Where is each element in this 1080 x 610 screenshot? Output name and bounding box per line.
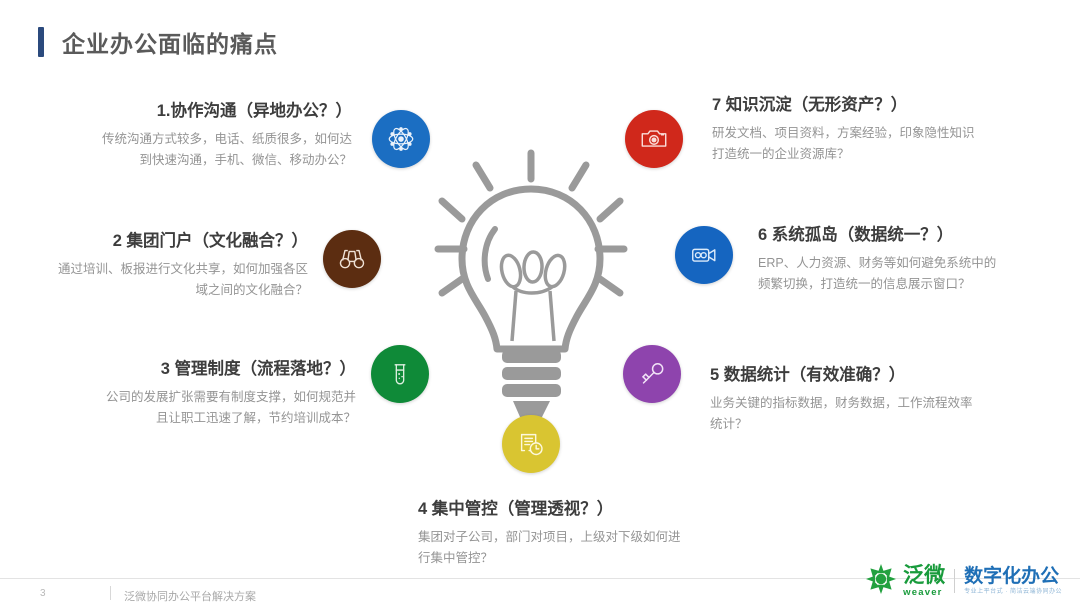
logo-cn-text: 泛微	[903, 565, 945, 586]
page-number: 3	[40, 588, 46, 599]
pain-point-7-title: 7 知识沉淀（无形资产？）	[712, 94, 976, 117]
pain-point-4-title: 4 集中管控（管理透视？）	[418, 498, 683, 521]
icon-bubble-4[interactable]	[502, 415, 560, 473]
footer-separator	[110, 586, 111, 600]
pain-point-2-body: 通过培训、板报进行文化共享，如何加强各区域之间的文化融合？	[50, 259, 308, 300]
atom-icon	[386, 124, 416, 154]
icon-bubble-2[interactable]	[323, 230, 381, 288]
pain-point-1: 1.协作沟通（异地办公？） 传统沟通方式较多，电话、纸质很多，如何达到快速沟通，…	[90, 100, 352, 170]
brand-logo: 泛微 weaver 数字化办公 专业上平台式 · 简洁云端协同办公	[864, 562, 1062, 600]
camera-icon	[639, 124, 669, 154]
weaver-star-icon	[864, 562, 898, 601]
pain-point-7: 7 知识沉淀（无形资产？） 研发文档、项目资料，方案经验，印象隐性知识打造统一的…	[712, 94, 976, 164]
binoculars-icon	[337, 244, 367, 274]
test-tube-icon	[386, 360, 414, 388]
video-camera-icon	[689, 240, 719, 270]
pain-point-5: 5 数据统计（有效准确？） 业务关键的指标数据，财务数据，工作流程效率统计？	[710, 364, 978, 434]
logo-en-text: weaver	[903, 588, 945, 598]
pain-point-1-body: 传统沟通方式较多，电话、纸质很多，如何达到快速沟通，手机、微信、移动办公？	[90, 129, 352, 170]
pain-point-3-title: 3 管理制度（流程落地？）	[98, 358, 356, 381]
icon-bubble-5[interactable]	[623, 345, 681, 403]
pain-point-7-body: 研发文档、项目资料，方案经验，印象隐性知识打造统一的企业资源库？	[712, 123, 976, 164]
pain-point-3-body: 公司的发展扩张需要有制度支撑，如何规范并且让职工迅速了解，节约培训成本？	[98, 387, 356, 428]
footer-note: 泛微协同办公平台解决方案	[124, 588, 256, 604]
pain-point-3: 3 管理制度（流程落地？） 公司的发展扩张需要有制度支撑，如何规范并且让职工迅速…	[98, 358, 356, 428]
icon-bubble-6[interactable]	[675, 226, 733, 284]
pain-point-5-body: 业务关键的指标数据，财务数据，工作流程效率统计？	[710, 393, 978, 434]
page-title: 企业办公面临的痛点	[38, 24, 278, 60]
icon-bubble-7[interactable]	[625, 110, 683, 168]
pain-point-6: 6 系统孤岛（数据统一？） ERP、人力资源、财务等如何避免系统中的频繁切换，打…	[758, 224, 1008, 294]
pain-point-6-body: ERP、人力资源、财务等如何避免系统中的频繁切换，打造统一的信息展示窗口？	[758, 253, 1008, 294]
logo-tagline: 数字化办公	[964, 567, 1062, 586]
icon-bubble-3[interactable]	[371, 345, 429, 403]
pain-point-4-body: 集团对子公司，部门对项目，上级对下级如何进行集中管控？	[418, 527, 683, 568]
microphone-icon	[637, 359, 667, 389]
pain-point-2-title: 2 集团门户（文化融合？）	[50, 230, 308, 253]
pain-point-2: 2 集团门户（文化融合？） 通过培训、板报进行文化共享，如何加强各区域之间的文化…	[50, 230, 308, 300]
pain-point-1-title: 1.协作沟通（异地办公？）	[90, 100, 352, 123]
pain-point-4: 4 集中管控（管理透视？） 集团对子公司，部门对项目，上级对下级如何进行集中管控…	[418, 498, 683, 568]
pain-point-5-title: 5 数据统计（有效准确？）	[710, 364, 978, 387]
icon-bubble-1[interactable]	[372, 110, 430, 168]
document-clock-icon	[516, 429, 546, 459]
title-accent-bar	[38, 27, 44, 57]
pain-point-6-title: 6 系统孤岛（数据统一？）	[758, 224, 1008, 247]
logo-subtagline: 专业上平台式 · 简洁云端协同办公	[964, 589, 1062, 595]
slide-title-text: 企业办公面临的痛点	[62, 25, 278, 59]
logo-separator	[954, 569, 955, 593]
